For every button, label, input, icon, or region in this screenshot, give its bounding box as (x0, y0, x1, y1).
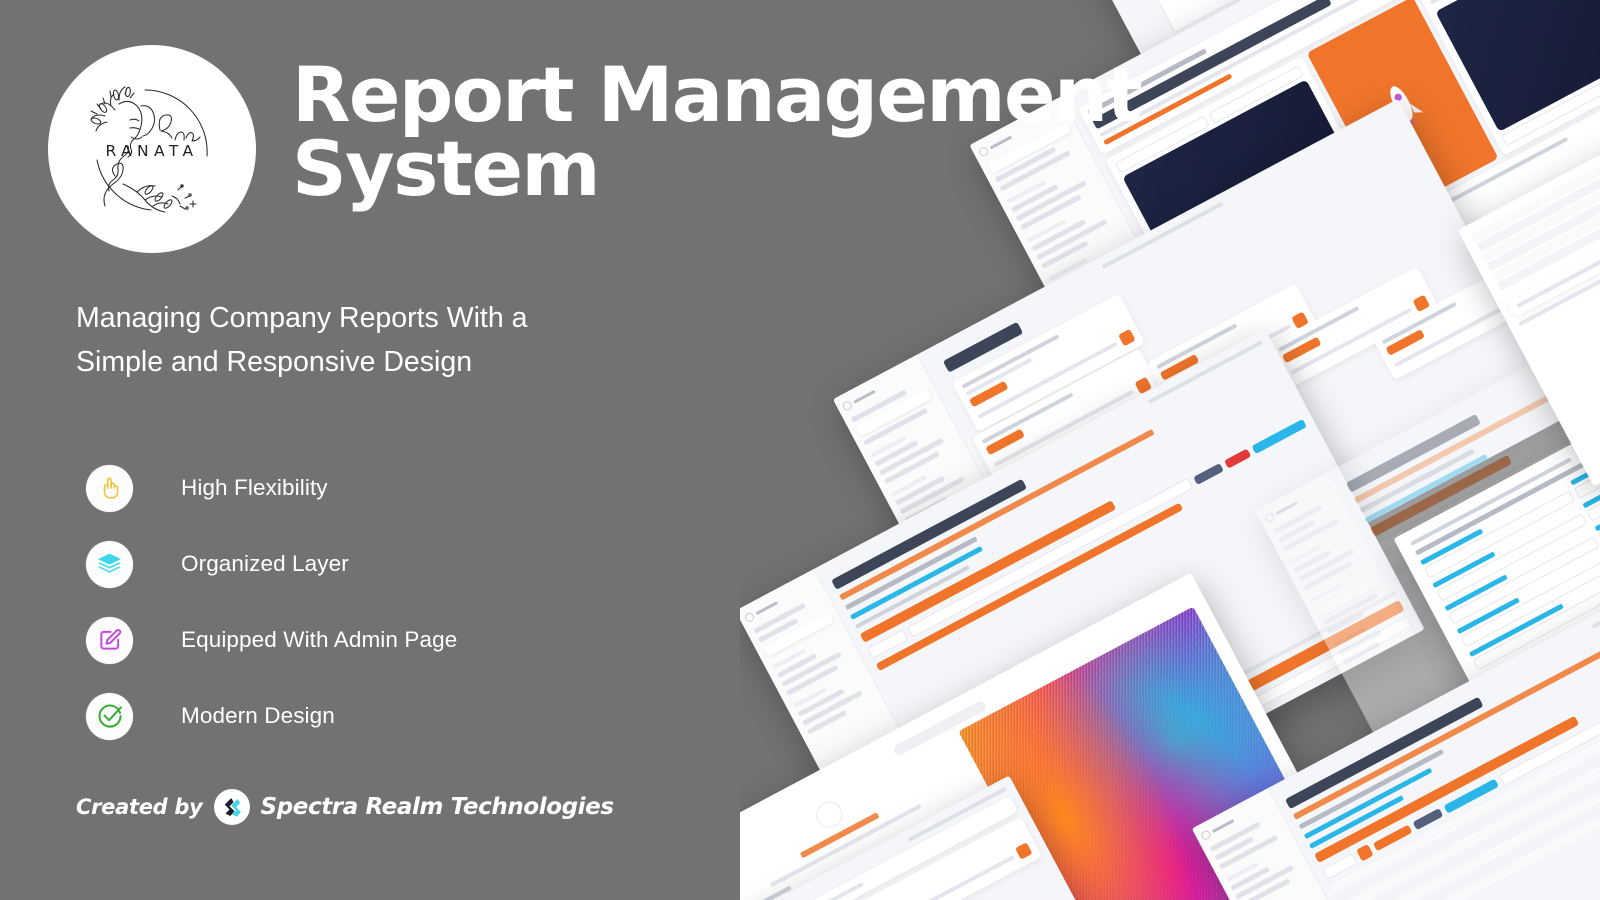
title-line-2: System (292, 132, 1142, 206)
svg-text:RANATA: RANATA (105, 142, 198, 160)
feature-item-organized-layer: Organized Layer (76, 526, 696, 602)
feature-list: High Flexibility Organized Layer (76, 450, 696, 754)
page-title: Report Management System (292, 58, 1142, 207)
check-circle-icon (86, 693, 133, 740)
feature-item-high-flexibility: High Flexibility (76, 450, 696, 526)
pointing-hand-icon (86, 465, 133, 512)
edit-square-icon (86, 617, 133, 664)
credit-line: Created by Spectra Realm Technologies (76, 789, 614, 825)
ranata-logo-badge: RANATA (48, 45, 256, 253)
feature-item-admin-page: Equipped With Admin Page (76, 602, 696, 678)
credit-company-name: Spectra Realm Technologies (261, 794, 614, 820)
page-subtitle: Managing Company Reports With a Simple a… (76, 296, 716, 384)
feature-item-modern-design: Modern Design (76, 678, 696, 754)
feature-label: Equipped With Admin Page (181, 627, 457, 653)
ranata-logo-icon: RANATA (67, 64, 237, 234)
credit-prefix: Created by (76, 795, 203, 819)
promo-banner: RANATA Report Management System Managing… (0, 0, 1600, 900)
layers-stack-icon (86, 541, 133, 588)
feature-label: Modern Design (181, 703, 335, 729)
spectra-realm-logo-icon (214, 789, 250, 825)
feature-label: Organized Layer (181, 551, 349, 577)
feature-label: High Flexibility (181, 475, 328, 501)
subtitle-line-2: Simple and Responsive Design (76, 340, 716, 384)
subtitle-line-1: Managing Company Reports With a (76, 302, 527, 334)
